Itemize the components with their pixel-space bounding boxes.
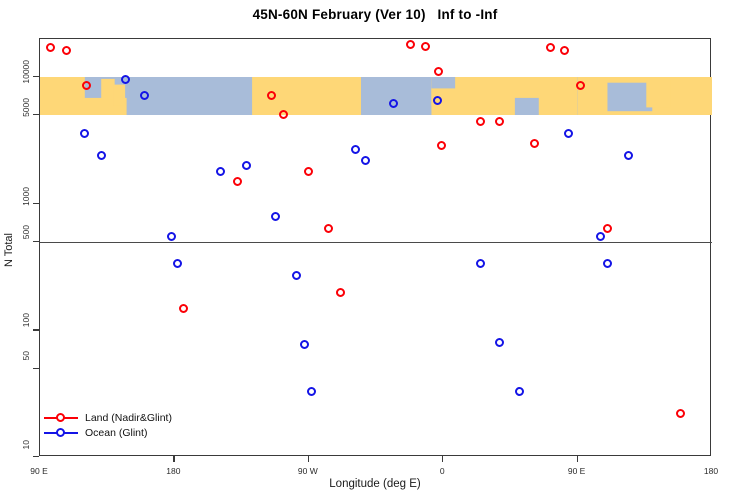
- data-point-ocean: [292, 271, 301, 280]
- data-point-land: [421, 42, 430, 51]
- data-point-ocean: [80, 129, 89, 138]
- data-point-ocean: [173, 259, 182, 268]
- data-point-land: [676, 409, 685, 418]
- x-tick: [308, 456, 309, 462]
- data-point-ocean: [564, 129, 573, 138]
- x-axis-label: Longitude (deg E): [0, 478, 750, 490]
- data-point-land: [603, 224, 612, 233]
- reference-line: [40, 242, 712, 243]
- y-tick: [33, 203, 39, 204]
- y-tick-label: 500: [21, 225, 31, 239]
- data-point-land: [560, 46, 569, 55]
- data-point-ocean: [216, 167, 225, 176]
- data-point-land: [495, 117, 504, 126]
- y-tick-label: 10: [21, 440, 31, 449]
- legend-item-ocean[interactable]: Ocean (Glint): [44, 425, 172, 440]
- data-point-ocean: [167, 232, 176, 241]
- data-point-ocean: [361, 156, 370, 165]
- data-point-ocean: [596, 232, 605, 241]
- data-point-land: [437, 141, 446, 150]
- data-point-ocean: [307, 387, 316, 396]
- y-axis-label-text: N Total: [3, 233, 15, 267]
- data-point-land: [304, 167, 313, 176]
- data-point-ocean: [97, 151, 106, 160]
- legend-label-ocean: Ocean (Glint): [85, 427, 147, 439]
- legend-label-land: Land (Nadir&Glint): [85, 412, 172, 424]
- legend-marker-land-icon: [44, 412, 78, 423]
- data-point-land: [267, 91, 276, 100]
- legend: Land (Nadir&Glint) Ocean (Glint): [44, 410, 172, 440]
- y-tick-label: 50: [21, 351, 31, 360]
- data-point-ocean: [121, 75, 130, 84]
- data-point-ocean: [351, 145, 360, 154]
- data-point-land: [279, 110, 288, 119]
- data-point-ocean: [271, 212, 280, 221]
- data-point-ocean: [300, 340, 309, 349]
- chart-root: 45N-60N February (Ver 10) Inf to -Inf N …: [0, 0, 750, 500]
- y-tick-label: 5000: [21, 98, 31, 117]
- data-point-land: [530, 139, 539, 148]
- data-point-ocean: [603, 259, 612, 268]
- y-tick: [33, 241, 39, 242]
- data-point-ocean: [242, 161, 251, 170]
- data-point-ocean: [433, 96, 442, 105]
- x-tick-label: 0: [412, 466, 472, 476]
- data-point-land: [324, 224, 333, 233]
- data-point-land: [476, 117, 485, 126]
- y-axis-label: N Total: [3, 0, 15, 500]
- y-tick-label: 100: [21, 313, 31, 327]
- y-tick: [33, 368, 39, 369]
- y-tick: [33, 76, 39, 77]
- data-point-land: [62, 46, 71, 55]
- x-tick-label: 90 E: [9, 466, 69, 476]
- y-tick-label: 10000: [21, 60, 31, 84]
- data-point-ocean: [515, 387, 524, 396]
- data-point-land: [546, 43, 555, 52]
- data-point-ocean: [140, 91, 149, 100]
- y-tick-label: 1000: [21, 187, 31, 206]
- x-tick: [442, 456, 443, 462]
- x-tick-label: 180: [143, 466, 203, 476]
- data-point-ocean: [476, 259, 485, 268]
- y-tick: [33, 114, 39, 115]
- legend-marker-ocean-icon: [44, 427, 78, 438]
- x-tick-label: 180: [681, 466, 741, 476]
- x-tick-label: 90 W: [278, 466, 338, 476]
- y-tick: [33, 329, 39, 330]
- data-point-ocean: [624, 151, 633, 160]
- data-point-land: [336, 288, 345, 297]
- data-point-land: [46, 43, 55, 52]
- x-tick-label: 90 E: [547, 466, 607, 476]
- x-tick: [173, 456, 174, 462]
- data-point-land: [576, 81, 585, 90]
- data-point-ocean: [495, 338, 504, 347]
- data-point-land: [179, 304, 188, 313]
- plot-area: [39, 38, 711, 456]
- data-point-land: [406, 40, 415, 49]
- data-point-land: [233, 177, 242, 186]
- x-tick: [577, 456, 578, 462]
- data-point-land: [434, 67, 443, 76]
- chart-title: 45N-60N February (Ver 10) Inf to -Inf: [0, 7, 750, 22]
- legend-item-land[interactable]: Land (Nadir&Glint): [44, 410, 172, 425]
- data-point-land: [82, 81, 91, 90]
- y-tick: [33, 456, 39, 457]
